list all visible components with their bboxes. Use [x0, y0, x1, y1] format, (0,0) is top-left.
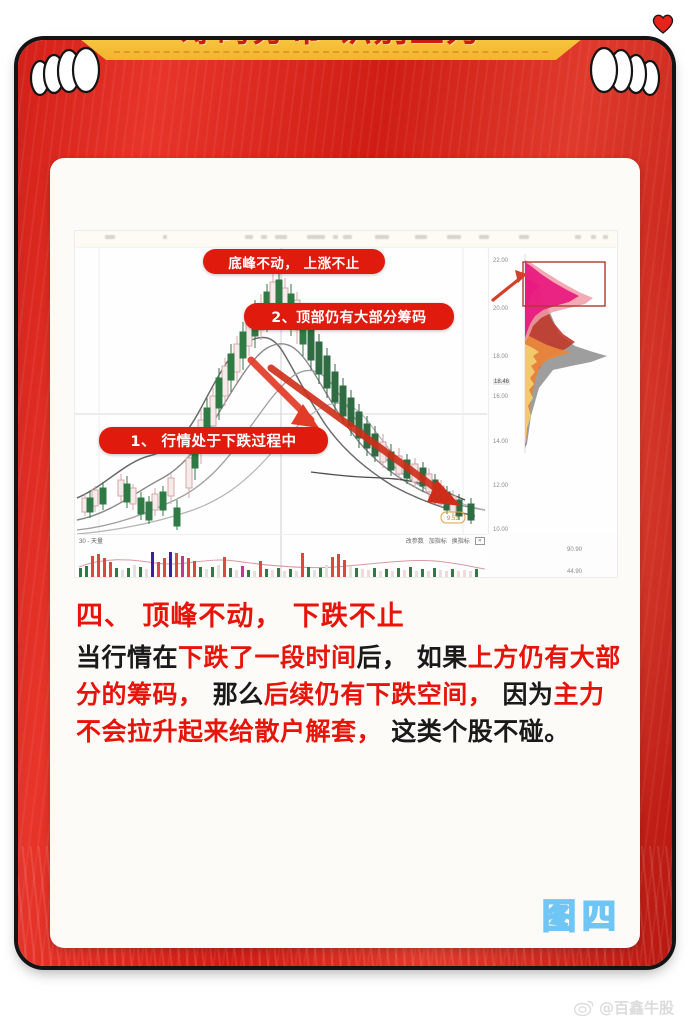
switch-indicator-button[interactable]: 换指标 — [452, 536, 470, 545]
chip-axis-label: 20.00 — [493, 306, 508, 312]
text-run-red: 后续仍有下跌 — [264, 680, 417, 709]
kline-chart: 9.53 — [75, 248, 487, 534]
hand-left-icon — [22, 44, 118, 98]
callout-chips-remain: 2、顶部仍有大部分筹码 — [244, 303, 454, 330]
chip-axis-label: 10.00 — [493, 527, 508, 533]
watermark: @百鑫牛股 — [574, 997, 674, 1018]
volume-indicator-label: 30 - 天量 — [79, 536, 103, 545]
content-card: 9.53 — [50, 158, 640, 948]
text-run: 因为 — [493, 680, 553, 709]
volume-indicator-text: 30 - 天量 — [79, 539, 103, 545]
chip-current-price: 18.46 — [493, 379, 510, 385]
figure-badge-char-1: 图 — [542, 900, 576, 934]
chip-axis-label: 12.00 — [493, 483, 508, 489]
app-toolbar — [75, 231, 617, 248]
text-run-red: 下跌了一段时间 — [178, 643, 357, 672]
add-indicator-button[interactable]: 加指标 — [429, 536, 447, 545]
volume-toolbar: 改参数 加指标 换指标 ✕ — [406, 536, 485, 545]
article-heading: 四、 顶峰不动， 下跌不止 — [76, 594, 622, 633]
svg-text:9.53: 9.53 — [447, 516, 459, 522]
page-title: 筹码分布 识别主力 — [180, 40, 482, 51]
chip-axis-label: 14.00 — [493, 439, 508, 445]
callout-downtrend: 1、 行情处于下跌过程中 — [99, 427, 328, 454]
article-body: 四、 顶峰不动， 下跌不止 当行情在下跌了一段时间后， 如果上方仍有大部分的筹码… — [76, 594, 622, 750]
close-icon[interactable]: ✕ — [475, 537, 485, 545]
text-run: 当行情在 — [76, 643, 178, 672]
trading-screenshot: 9.53 — [74, 230, 618, 578]
text-run-red: 上方 — [468, 643, 519, 672]
text-run-red: 空间， — [417, 680, 494, 709]
weibo-icon — [574, 999, 594, 1016]
text-run: 这类个股不碰。 — [382, 717, 570, 746]
figure-badge-char-2: 四 — [582, 900, 616, 934]
heart-icon — [650, 10, 676, 36]
title-banner: 筹码分布 识别主力 — [64, 40, 598, 60]
chip-distribution-panel — [488, 248, 618, 534]
article-paragraph: 当行情在下跌了一段时间后， 如果上方仍有大部分的筹码， 那么后续仍有下跌空间， … — [76, 639, 622, 750]
volume-axis-label: 44.90 — [567, 569, 582, 575]
text-run-red: 套， — [331, 717, 382, 746]
poster-frame: 9.53 — [18, 40, 672, 966]
text-run: 那么 — [204, 680, 264, 709]
chip-axis-label: 22.00 — [493, 258, 508, 264]
change-params-button[interactable]: 改参数 — [406, 536, 424, 545]
volume-axis-label: 90.90 — [567, 547, 582, 553]
chip-axis-label: 16.00 — [493, 394, 508, 400]
chip-axis-label: 18.00 — [493, 354, 508, 360]
hand-right-icon — [572, 44, 668, 98]
figure-badge: 图 四 — [542, 900, 616, 934]
watermark-text: @百鑫牛股 — [599, 997, 674, 1018]
text-run: 后， 如果 — [357, 643, 468, 672]
callout-top-peak: 底峰不动， 上涨不止 — [203, 249, 385, 274]
